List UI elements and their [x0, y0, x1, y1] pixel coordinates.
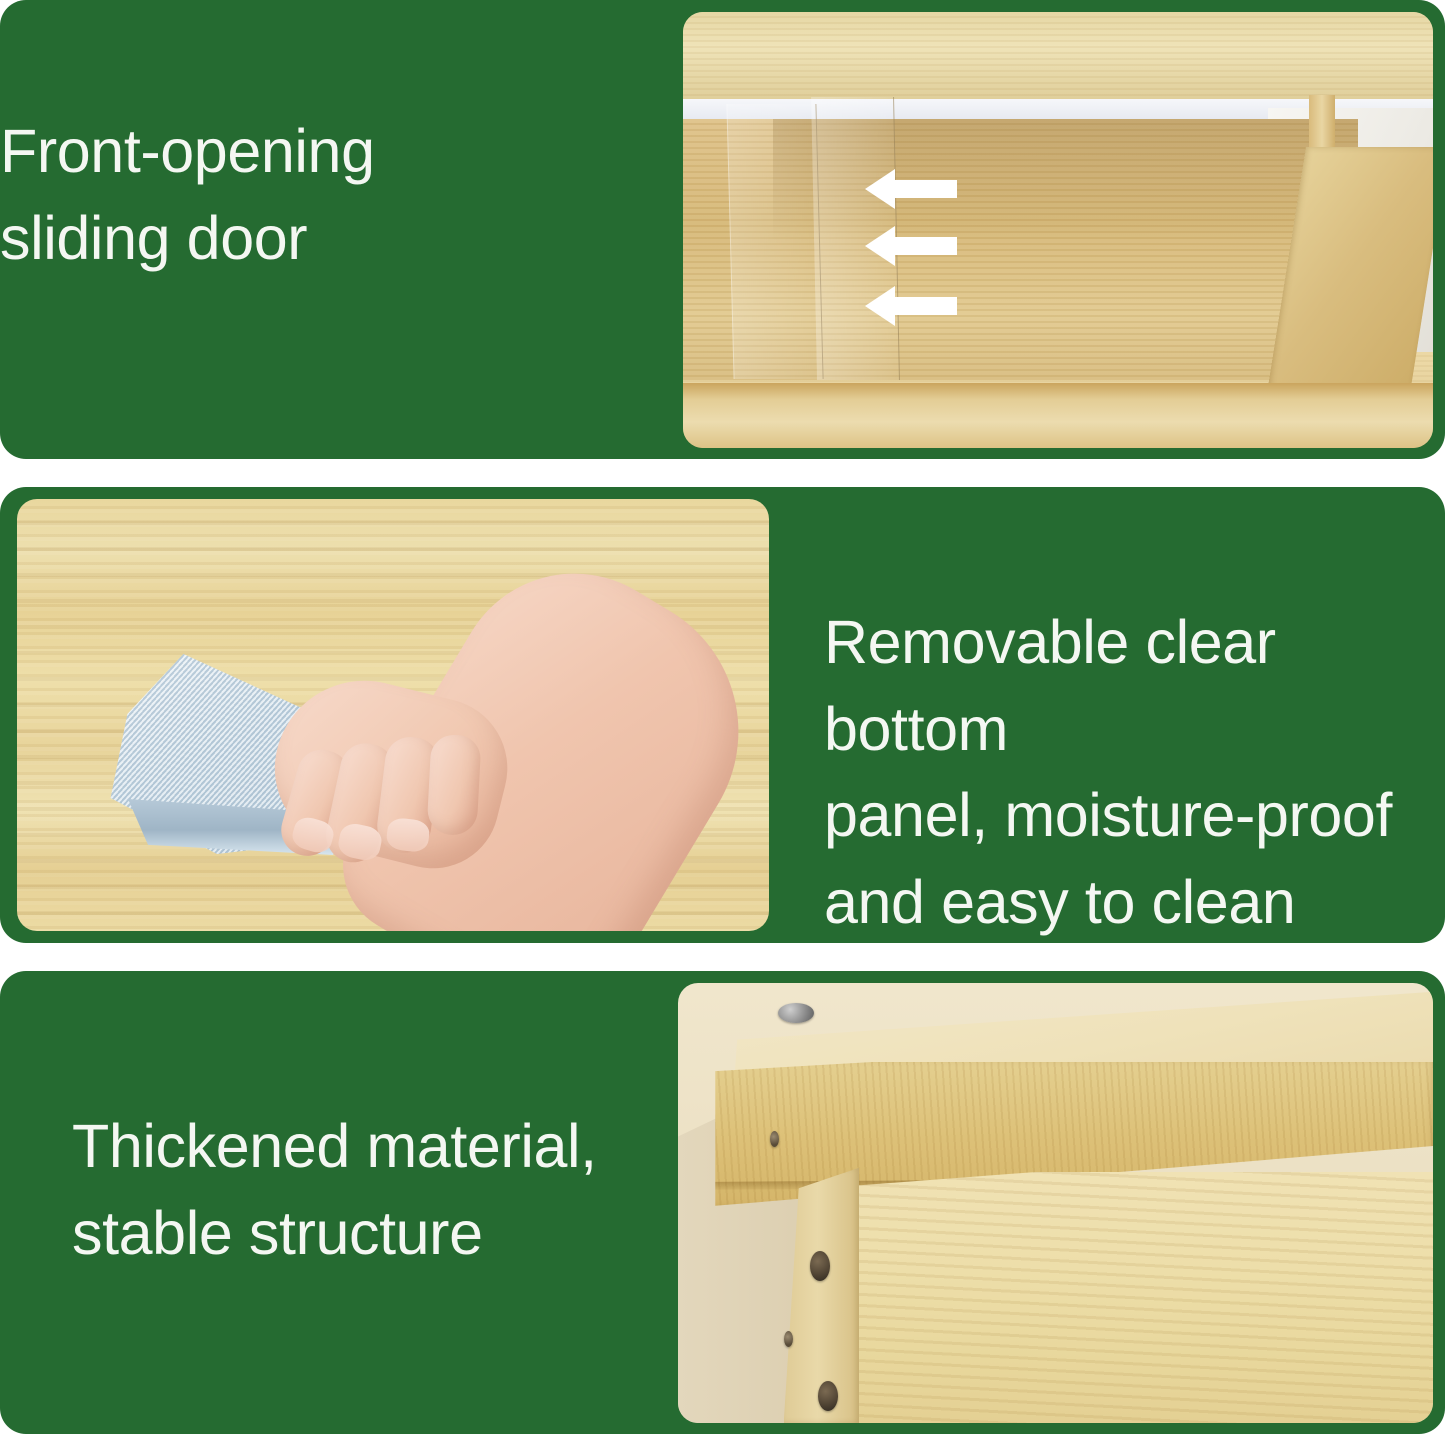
- screw-icon: [784, 1331, 793, 1347]
- front-bottom-board: [683, 383, 1433, 448]
- photo-sliding-door-interior: [683, 12, 1433, 448]
- front-board: [821, 1172, 1433, 1423]
- left-arrow-icon: [865, 224, 957, 268]
- feature-panel-sliding-door: Front-opening sliding door: [0, 0, 1445, 459]
- panel-2-caption: Removable clear bottom panel, moisture-p…: [824, 599, 1445, 943]
- acrylic-sliding-panel-left: [726, 104, 823, 379]
- panel-3-caption: Thickened material, stable structure: [72, 1103, 597, 1276]
- panel-1-caption: Front-opening sliding door: [0, 108, 375, 281]
- feature-panel-removable-bottom-panel: Removable clear bottom panel, moisture-p…: [0, 487, 1445, 943]
- feature-panel-thickened-material: Thickened material, stable structure: [0, 971, 1445, 1434]
- photo-box-corner-detail: [678, 983, 1433, 1423]
- screw-icon: [778, 1003, 814, 1023]
- left-arrow-icon: [865, 284, 957, 328]
- screw-icon: [810, 1251, 830, 1281]
- top-board: [683, 12, 1433, 99]
- screw-icon: [770, 1131, 779, 1147]
- left-arrow-icon: [865, 167, 957, 211]
- finger: [426, 734, 481, 836]
- screw-icon: [818, 1381, 838, 1411]
- photo-hand-wiping-wood: [17, 499, 769, 931]
- product-feature-infographic: Front-opening sliding door: [0, 0, 1445, 1434]
